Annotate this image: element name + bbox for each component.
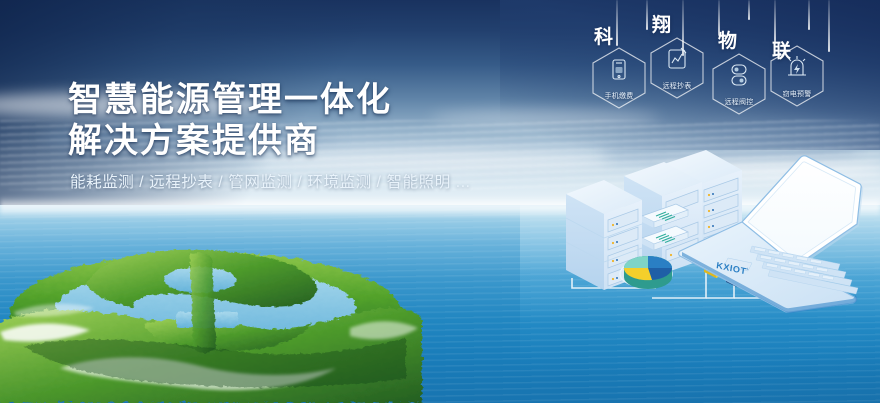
remote-meter-reading-icon [669, 48, 686, 68]
feature-label: 手机缴费 [590, 91, 648, 101]
dollar-shaped-island [0, 228, 424, 403]
isometric-tech-illustration: KXIOT + [556, 146, 880, 316]
feature-remote-meter-reading[interactable]: 远程抄表 [648, 36, 706, 100]
feature-mobile-payment[interactable]: 手机缴费 [590, 46, 648, 110]
remote-valve-control-icon [732, 65, 746, 85]
brand-char-wu: 物 [718, 26, 738, 53]
subline-services: 能耗监测 / 远程抄表 / 管网监测 / 环境监测 / 智能照明 ... [70, 170, 550, 192]
brand-char-xiang: 翔 [652, 10, 672, 37]
decorative-line [616, 0, 618, 46]
feature-cluster: 科 翔 物 联 手机缴费 [560, 0, 880, 120]
decorative-line [646, 0, 648, 30]
feature-remote-valve-control[interactable]: 远程阀控 [710, 52, 768, 116]
brand-char-ke: 科 [594, 22, 614, 49]
mobile-payment-icon [613, 60, 625, 79]
feature-label: 远程阀控 [710, 97, 768, 107]
power-theft-alert-icon [788, 56, 806, 75]
headline-line-1: 智慧能源管理一体化 [68, 80, 538, 121]
decorative-line [808, 0, 810, 30]
feature-label: 窃电预警 [768, 89, 826, 99]
feature-label: 远程抄表 [648, 81, 706, 91]
decorative-line [828, 0, 830, 52]
headline-line-2: 解决方案提供商 [68, 121, 538, 162]
hero-banner: 智慧能源管理一体化 解决方案提供商 能耗监测 / 远程抄表 / 管网监测 / 环… [0, 0, 880, 403]
decorative-line [748, 0, 750, 20]
headline: 智慧能源管理一体化 解决方案提供商 [68, 80, 538, 162]
feature-power-theft-alert[interactable]: 窃电预警 [768, 44, 826, 108]
